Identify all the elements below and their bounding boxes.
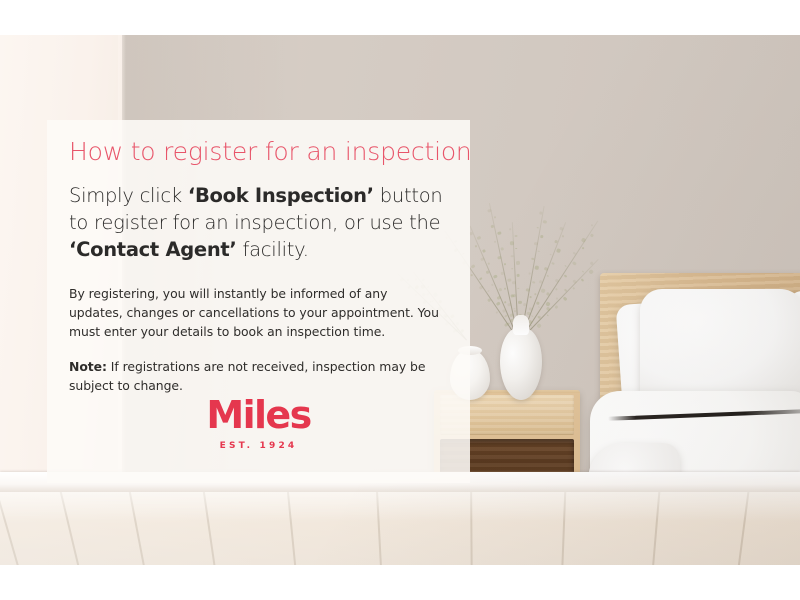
branch-leaf <box>479 277 482 280</box>
branch-leaf <box>556 297 558 299</box>
floor-sheen <box>0 492 800 565</box>
branch-leaf <box>582 247 584 249</box>
branch-leaf <box>590 261 594 265</box>
branch-leaf <box>563 296 568 301</box>
branch-leaf <box>515 248 517 250</box>
branch-leaf <box>534 242 538 246</box>
note-label: Note: <box>69 359 107 374</box>
branch-leaf <box>513 294 516 297</box>
branch-leaf <box>494 216 496 218</box>
branch-leaf <box>502 309 505 312</box>
branch-leaf <box>550 253 552 255</box>
branch-leaf <box>510 228 512 230</box>
lede-before: Simply click <box>69 184 188 207</box>
branch-leaf <box>530 296 532 298</box>
info-panel: How to register for an inspection Simply… <box>47 120 470 483</box>
branch-leaf <box>487 290 489 292</box>
branch-leaf <box>504 301 506 303</box>
branch-leaf <box>517 288 519 290</box>
branch-leaf <box>559 227 563 231</box>
branch-leaf <box>573 287 575 289</box>
branch-leaf <box>564 274 567 277</box>
branch-leaf <box>497 231 501 235</box>
branch-leaf <box>555 288 557 290</box>
screenshot-canvas: How to register for an inspection Simply… <box>0 0 800 600</box>
branch-leaf <box>493 275 497 279</box>
branch-leaf <box>540 211 543 214</box>
branch-leaf <box>512 281 516 285</box>
branch-leaf <box>504 288 506 290</box>
branch-leaf <box>555 240 558 243</box>
branch-leaf <box>491 225 494 228</box>
bedroom-photo: How to register for an inspection Simply… <box>0 35 800 565</box>
branch-leaf <box>537 227 539 229</box>
branch-leaf <box>539 280 542 283</box>
branch-leaf <box>518 301 522 305</box>
branch-leaf <box>517 274 520 277</box>
branch-leaf <box>470 264 475 269</box>
branch-leaf <box>515 235 518 238</box>
branch-leaf <box>572 261 577 266</box>
branch-leaf <box>547 275 549 277</box>
branch-leaf <box>573 251 576 254</box>
branch-leaf <box>479 285 484 290</box>
branch-leaf <box>547 314 549 316</box>
lede-paragraph: Simply click ‘Book Inspection’ button to… <box>69 183 444 264</box>
contact-agent-label: ‘Contact Agent’ <box>69 238 237 261</box>
branch-leaf <box>499 288 502 291</box>
branch-leaf <box>538 315 542 319</box>
branch-leaf <box>565 265 567 267</box>
branch-leaf <box>537 323 542 328</box>
branch-leaf <box>546 306 551 311</box>
branch-leaf <box>581 238 586 243</box>
branch-leaf <box>555 305 559 309</box>
branch-leaf <box>544 267 548 271</box>
brand-logo: Miles EST. 1924 <box>47 396 470 451</box>
branch-leaf <box>511 255 514 258</box>
branch-leaf <box>477 236 481 240</box>
branch-leaf <box>510 241 514 245</box>
branch-leaf <box>541 288 545 292</box>
branch-leaf <box>498 256 502 260</box>
branch-leaf <box>475 245 477 247</box>
branch-leaf <box>501 247 504 250</box>
branch-leaf <box>487 298 490 301</box>
branch-leaf <box>471 274 473 276</box>
vase-tall <box>500 328 542 400</box>
branch-leaf <box>538 250 540 252</box>
branch-leaf <box>540 235 543 238</box>
branch-leaf <box>529 307 533 311</box>
branch-leaf <box>591 224 593 226</box>
branch-leaf <box>481 257 485 261</box>
logo-wordmark: Miles <box>47 396 470 434</box>
branch-leaf <box>516 261 520 265</box>
branch-leaf <box>526 288 530 292</box>
logo-tagline: EST. 1924 <box>47 441 470 451</box>
branch-leaf <box>504 263 506 265</box>
branch-leaf <box>555 279 560 284</box>
branch-leaf <box>497 296 501 300</box>
branch-leaf <box>536 302 539 305</box>
branch-leaf <box>546 292 549 295</box>
branch-leaf <box>470 232 473 235</box>
branch-leaf <box>508 303 512 307</box>
book-inspection-label: ‘Book Inspection’ <box>188 184 374 207</box>
note-paragraph: Note: If registrations are not received,… <box>69 358 444 396</box>
branch-leaf <box>532 281 535 284</box>
branch-leaf <box>488 262 490 264</box>
branch-leaf <box>523 303 526 306</box>
branch-leaf <box>501 272 504 275</box>
note-text: If registrations are not received, inspe… <box>69 359 425 393</box>
branch-leaf <box>494 241 496 243</box>
branch-leaf <box>508 322 510 324</box>
branch-leaf <box>562 235 564 237</box>
branch-leaf <box>564 288 568 292</box>
pillow-front <box>640 289 800 407</box>
branch-leaf <box>514 308 516 310</box>
page-title: How to register for an inspection <box>69 138 444 167</box>
branch-leaf <box>572 279 577 284</box>
lede-after: facility. <box>237 238 309 261</box>
branch-leaf <box>531 315 533 317</box>
branch-leaf <box>535 266 539 270</box>
branch-leaf <box>512 268 514 270</box>
branch-leaf <box>507 278 511 282</box>
branch-leaf <box>529 272 531 274</box>
branch-leaf <box>538 306 540 308</box>
branch-leaf <box>581 278 585 282</box>
branch-leaf <box>482 249 485 252</box>
branch-leaf <box>530 324 532 326</box>
registration-info-paragraph: By registering, you will instantly be in… <box>69 285 444 342</box>
branch-leaf <box>582 270 584 272</box>
branch-leaf <box>486 270 489 273</box>
wood-floor <box>0 492 800 565</box>
branch-leaf <box>496 301 501 306</box>
branch-leaf <box>496 311 498 313</box>
branch-leaf <box>491 284 493 286</box>
branch-leaf <box>535 293 537 295</box>
branch-leaf <box>543 220 547 224</box>
branch-leaf <box>556 248 560 252</box>
branch-leaf <box>551 262 554 265</box>
branch-leaf <box>532 257 535 260</box>
